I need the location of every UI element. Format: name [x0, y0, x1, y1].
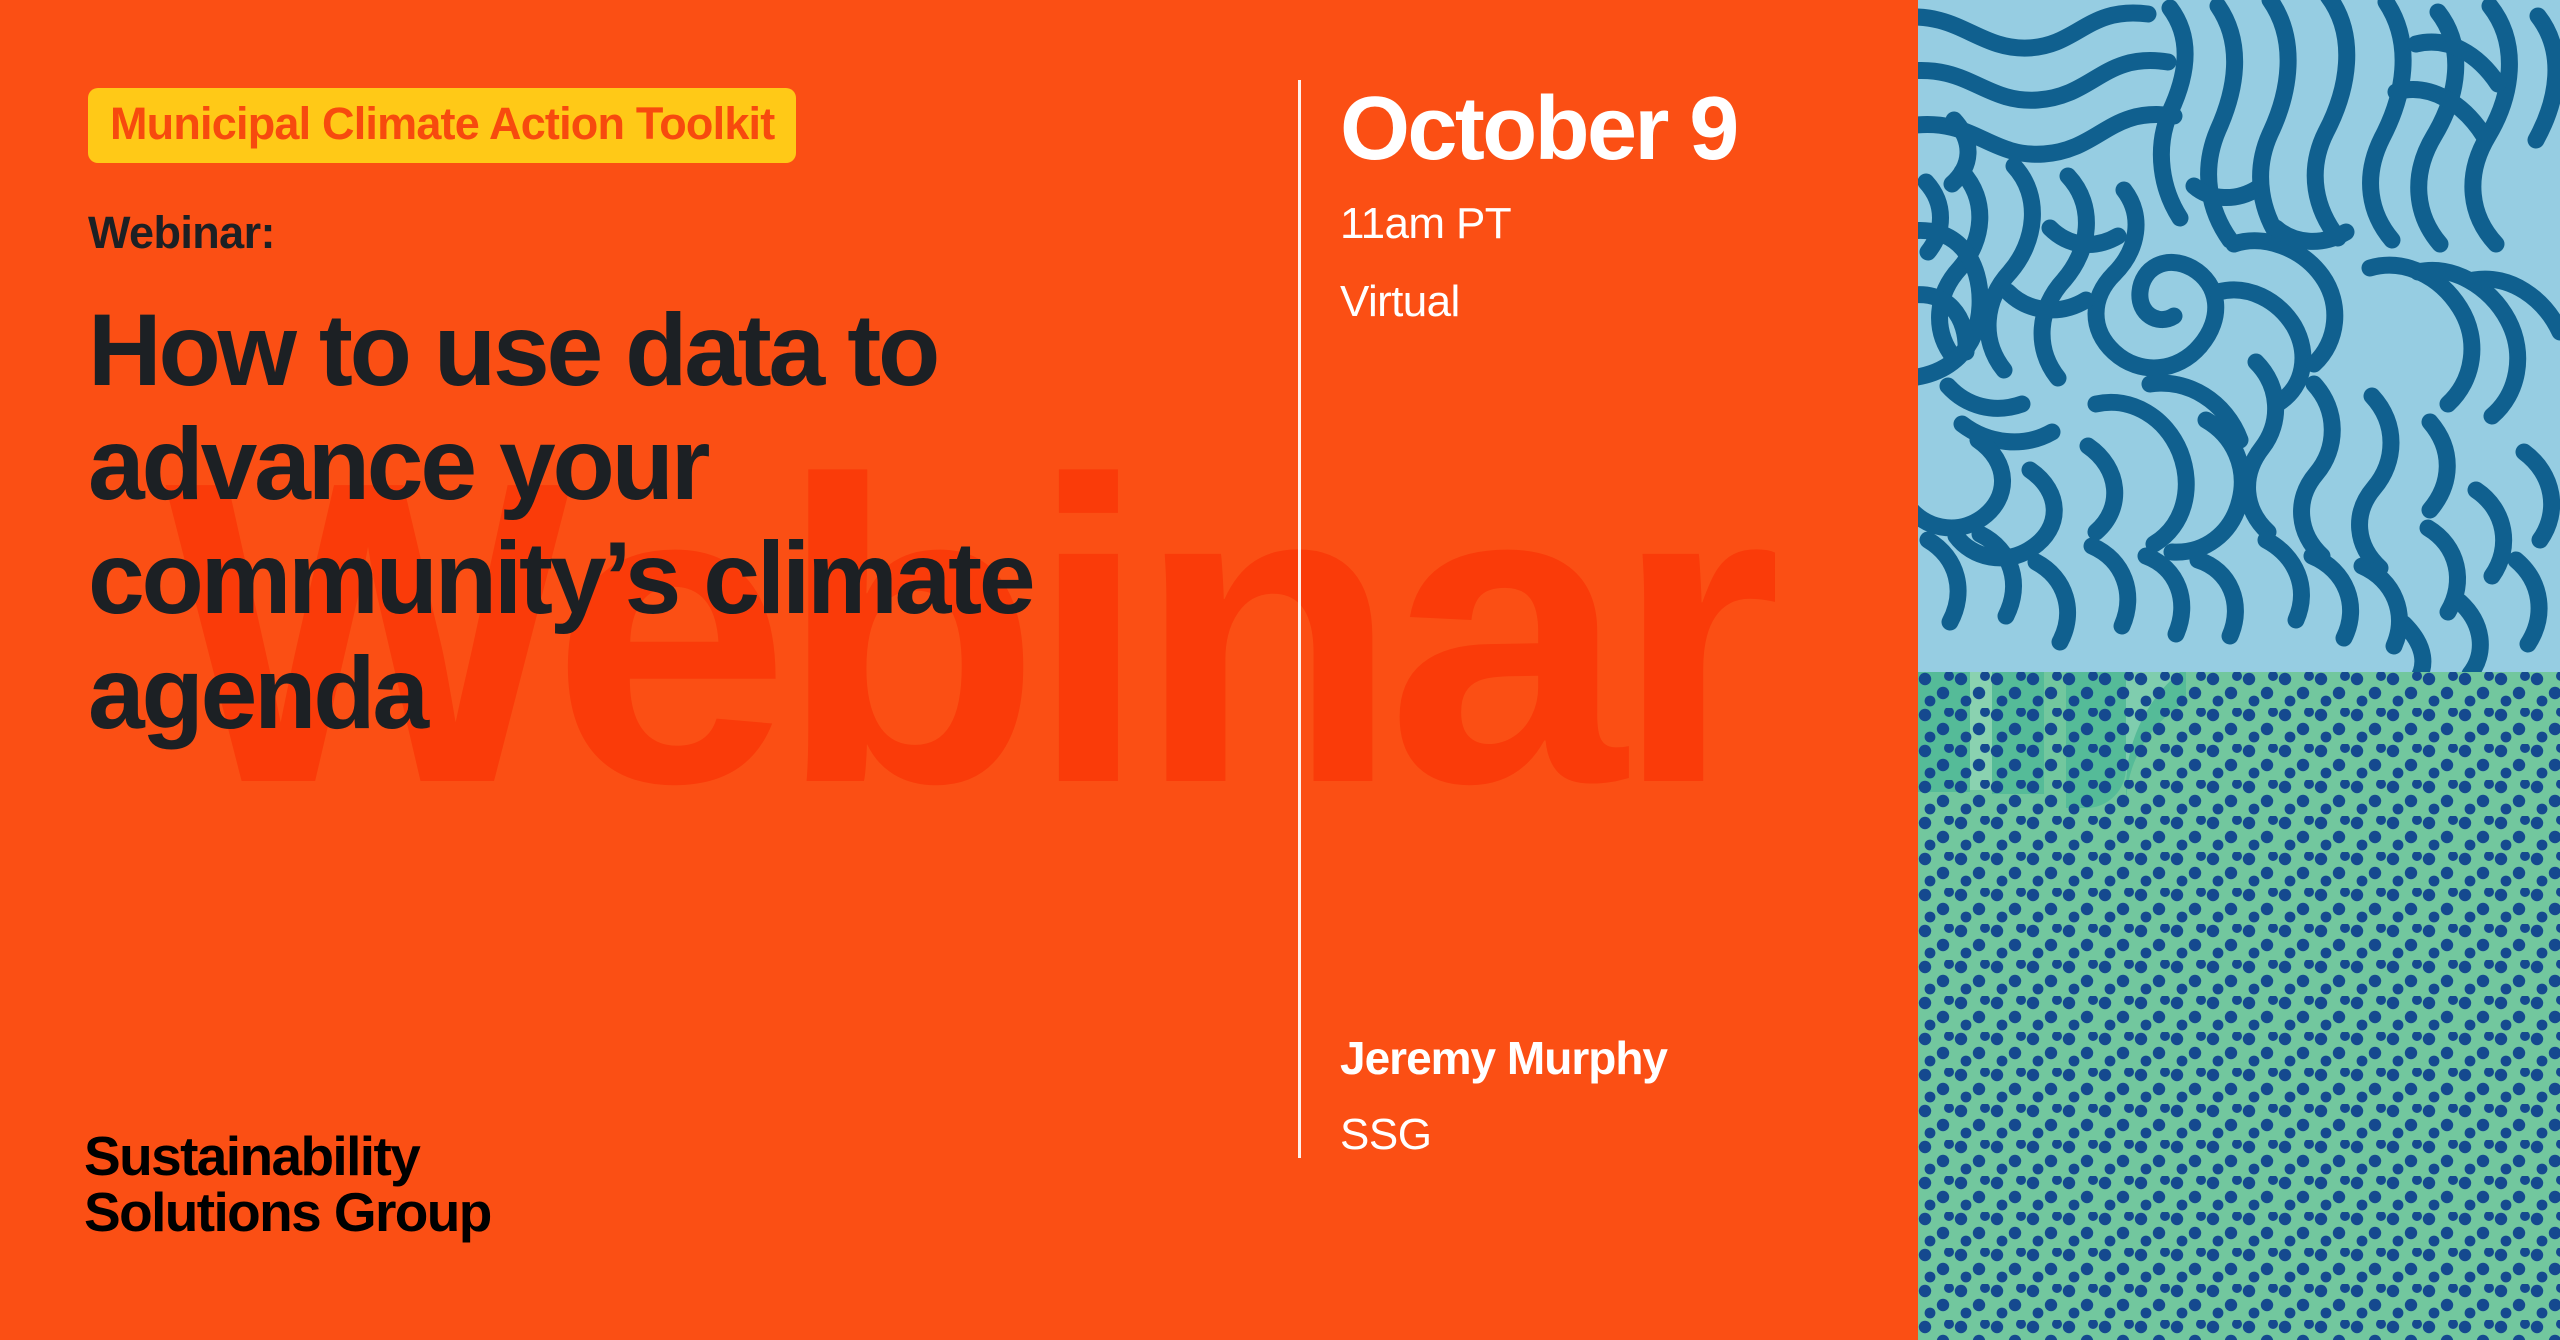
orange-content-panel: Webinar Municipal Climate Action Toolkit…: [0, 0, 1918, 1340]
speaker-name: Jeremy Murphy: [1340, 1035, 1880, 1081]
maze-pattern-art: [1918, 0, 2560, 672]
speaker-block: Jeremy Murphy SSG: [1340, 1035, 1880, 1157]
dot-pattern-svg: [1918, 672, 2560, 1340]
event-details-block: October 9 11am PT Virtual: [1340, 84, 1880, 358]
vertical-divider: [1298, 80, 1301, 1158]
eyebrow-label: Webinar:: [88, 210, 1208, 255]
webinar-promo-banner: Webinar Municipal Climate Action Toolkit…: [0, 0, 2560, 1340]
event-date: October 9: [1340, 84, 1880, 174]
speaker-organization: SSG: [1340, 1113, 1880, 1157]
decorative-art-column: [1918, 0, 2560, 1340]
toolkit-badge: Municipal Climate Action Toolkit: [88, 88, 796, 163]
left-copy-block: Webinar: How to use data to advance your…: [88, 210, 1208, 750]
event-format: Virtual: [1340, 280, 1880, 324]
event-time: 11am PT: [1340, 202, 1880, 246]
maze-pattern-svg: [1918, 0, 2560, 672]
dotted-pattern-art: [1918, 672, 2560, 1340]
logo-line-one: Sustainability: [84, 1128, 491, 1184]
page-title: How to use data to advance your communit…: [88, 293, 1148, 750]
ssg-logo: Sustainability Solutions Group: [84, 1128, 491, 1240]
logo-line-two: Solutions Group: [84, 1184, 491, 1240]
